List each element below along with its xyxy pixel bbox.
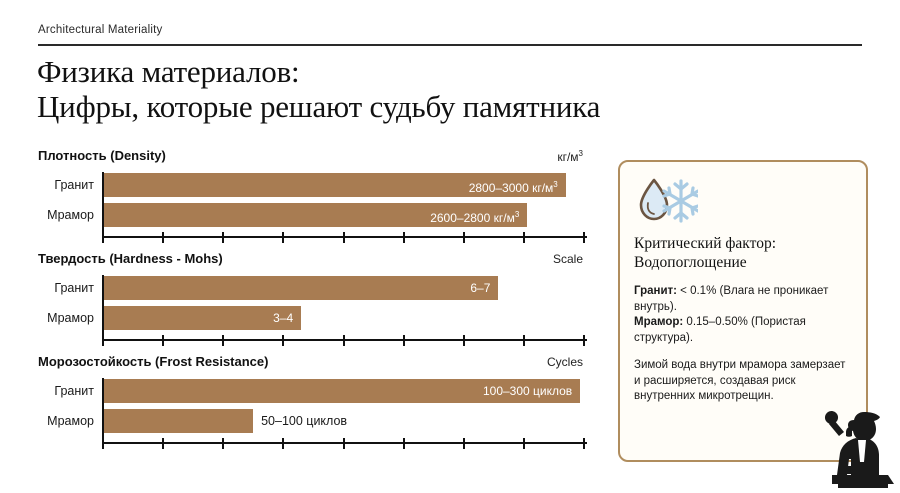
unit-exponent: 3 (579, 149, 583, 158)
chart-plot: Гранит2800–3000 кг/м3Мрамор2600–2800 кг/… (38, 172, 583, 242)
chart-section: Твердость (Hardness - Mohs)ScaleГранит6–… (38, 251, 583, 345)
bar-value-label: 2600–2800 кг/м3 (430, 203, 519, 227)
bar-value-exponent: 3 (553, 180, 557, 189)
granite-term: Гранит: (634, 285, 677, 297)
card-body: Гранит: < 0.1% (Влага не проникает внутр… (634, 284, 852, 405)
bar-category-label: Гранит (38, 172, 94, 198)
bar-category-label: Гранит (38, 275, 94, 301)
bar-row: Гранит100–300 циклов (102, 378, 583, 404)
bar-category-label: Мрамор (38, 408, 94, 434)
x-axis (102, 438, 583, 448)
axis-tick (583, 438, 585, 449)
bar-value-text: 3–4 (273, 311, 293, 325)
chart-section: Морозостойкость (Frost Resistance)Cycles… (38, 354, 583, 448)
axis-tick (282, 335, 284, 346)
axis-tick (343, 335, 345, 346)
axis-tick (222, 335, 224, 346)
bar-value-label: 50–100 циклов (261, 409, 347, 433)
axis-tick (463, 232, 465, 243)
bar-row: Мрамор50–100 циклов (102, 408, 583, 434)
chart-header: Морозостойкость (Frost Resistance)Cycles (38, 354, 583, 374)
unit-text: кг/м (557, 150, 578, 164)
axis-tick (162, 438, 164, 449)
stonemason-engraving (818, 396, 900, 488)
bar-value-label: 2800–3000 кг/м3 (469, 173, 558, 197)
x-axis (102, 335, 583, 345)
chart-section: Плотность (Density)кг/м3Гранит2800–3000 … (38, 148, 583, 242)
axis-tick (102, 232, 104, 243)
axis-tick (282, 232, 284, 243)
axis-tick (162, 335, 164, 346)
absorption-values: Гранит: < 0.1% (Влага не проникает внутр… (634, 284, 852, 346)
chart-unit-label: кг/м3 (557, 149, 583, 164)
bar-row: Мрамор3–4 (102, 305, 583, 331)
poster-root: Architectural Materiality Физика материа… (0, 0, 900, 488)
bar-value-text: 6–7 (470, 281, 490, 295)
axis-tick (343, 232, 345, 243)
chart-plot: Гранит100–300 цикловМрамор50–100 циклов (38, 378, 583, 448)
title-line-1: Физика материалов: (37, 54, 757, 89)
x-axis-line (102, 236, 587, 238)
axis-tick (583, 232, 585, 243)
axis-tick (222, 232, 224, 243)
axis-tick (343, 438, 345, 449)
bar: 2600–2800 кг/м3 (104, 203, 527, 227)
bar: 2800–3000 кг/м3 (104, 173, 566, 197)
x-axis-line (102, 442, 587, 444)
header-divider (38, 44, 862, 46)
title-line-2: Цифры, которые решают судьбу памятника (37, 89, 757, 124)
card-heading: Критический фактор: Водопоглощение (634, 234, 852, 272)
axis-tick (523, 232, 525, 243)
body-spacer (634, 346, 852, 358)
bar-value-text: 2600–2800 кг/м (430, 211, 515, 225)
axis-tick (403, 438, 405, 449)
axis-tick (583, 335, 585, 346)
chart-title: Твердость (Hardness - Mohs) (38, 251, 223, 266)
page-title: Физика материалов: Цифры, которые решают… (37, 54, 757, 124)
unit-text: Scale (553, 252, 583, 266)
card-heading-line-2: Водопоглощение (634, 253, 852, 272)
axis-tick (523, 438, 525, 449)
axis-tick (403, 335, 405, 346)
chart-title: Плотность (Density) (38, 148, 166, 163)
bar: 3–4 (104, 306, 301, 330)
bar-category-label: Мрамор (38, 305, 94, 331)
axis-tick (463, 335, 465, 346)
unit-text: Cycles (547, 355, 583, 369)
chart-header: Плотность (Density)кг/м3 (38, 148, 583, 168)
chart-header: Твердость (Hardness - Mohs)Scale (38, 251, 583, 271)
axis-tick (222, 438, 224, 449)
x-axis-line (102, 339, 587, 341)
marble-term: Мрамор: (634, 316, 683, 328)
bar-value-text: 100–300 циклов (483, 384, 572, 398)
bar-category-label: Мрамор (38, 202, 94, 228)
bar: 6–7 (104, 276, 498, 300)
bar-value-label: 6–7 (470, 276, 490, 300)
water-drop-snowflake-icon (636, 176, 698, 226)
bar-value-exponent: 3 (515, 210, 519, 219)
bar-row: Гранит2800–3000 кг/м3 (102, 172, 583, 198)
bar-row: Мрамор2600–2800 кг/м3 (102, 202, 583, 228)
bar: 100–300 циклов (104, 379, 580, 403)
axis-tick (162, 232, 164, 243)
axis-tick (463, 438, 465, 449)
bar-value-text: 2800–3000 кг/м (469, 181, 554, 195)
chart-unit-label: Scale (553, 252, 583, 266)
axis-tick (102, 335, 104, 346)
chart-unit-label: Cycles (547, 355, 583, 369)
axis-tick (403, 232, 405, 243)
card-heading-line-1: Критический фактор: (634, 234, 852, 253)
bar-value-label: 3–4 (273, 306, 293, 330)
bar (104, 409, 253, 433)
axis-tick (523, 335, 525, 346)
bar-category-label: Гранит (38, 378, 94, 404)
x-axis (102, 232, 583, 242)
axis-tick (102, 438, 104, 449)
bar-value-label: 100–300 циклов (483, 379, 572, 403)
eyebrow-label: Architectural Materiality (38, 24, 163, 36)
charts-container: Плотность (Density)кг/м3Гранит2800–3000 … (38, 148, 583, 457)
chart-title: Морозостойкость (Frost Resistance) (38, 354, 268, 369)
chart-plot: Гранит6–7Мрамор3–4 (38, 275, 583, 345)
bar-row: Гранит6–7 (102, 275, 583, 301)
axis-tick (282, 438, 284, 449)
